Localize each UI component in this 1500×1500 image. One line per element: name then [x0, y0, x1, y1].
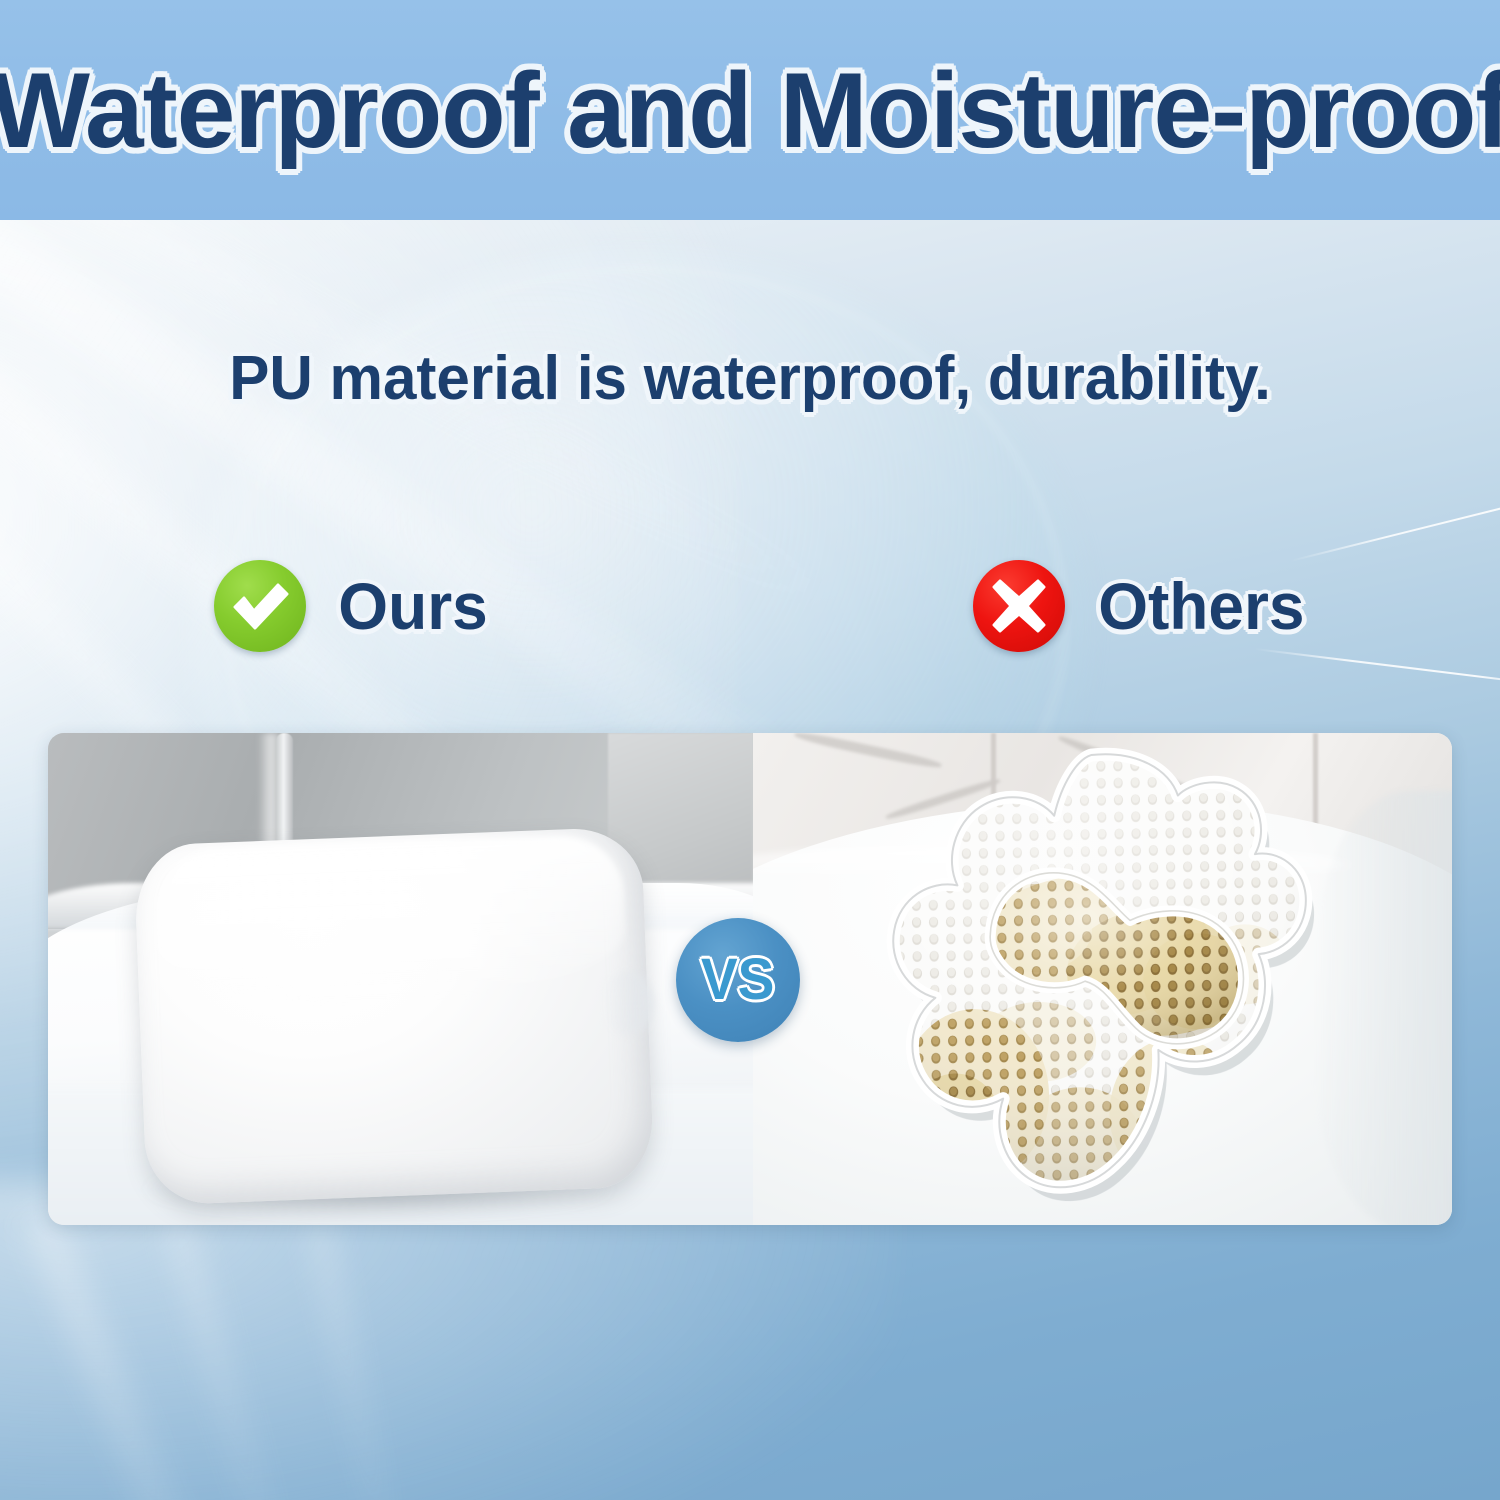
photo-others-mesh-pillow	[837, 737, 1353, 1214]
photo-ours	[48, 733, 753, 1225]
photo-ours-pu-pillow	[133, 826, 654, 1205]
photo-ours-pillow-highlight	[154, 834, 627, 1010]
photo-ours-pillow-notch	[600, 970, 654, 1036]
page-title: Waterproof and Moisture-proof	[11, 0, 1489, 220]
infographic-canvas: Waterproof and Moisture-proof PU materia…	[0, 0, 1500, 1500]
check-circle-icon	[214, 560, 306, 652]
verdict-ours-label: Ours	[338, 573, 487, 639]
verdict-others: Others	[973, 560, 1308, 652]
cross-circle-icon	[973, 560, 1065, 652]
photo-others	[753, 733, 1452, 1225]
versus-label: VS	[701, 951, 775, 1009]
subtitle-text: PU material is waterproof, durability.	[23, 348, 1478, 410]
photo-ours-pipe	[276, 733, 293, 853]
verdict-others-label: Others	[1098, 573, 1304, 639]
versus-badge: VS	[676, 918, 800, 1042]
verdict-ours: Ours	[214, 560, 490, 652]
